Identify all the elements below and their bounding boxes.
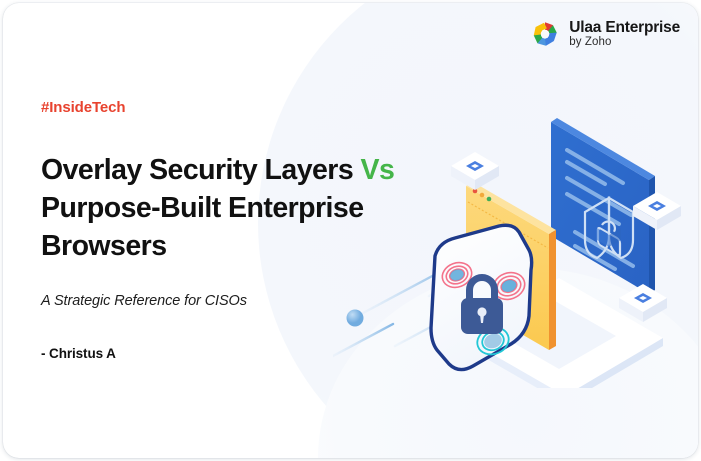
brand-logo-text: Ulaa Enterprise by Zoho — [569, 20, 680, 48]
page-title: Overlay Security Layers Vs Purpose-Built… — [41, 152, 461, 266]
window-minimize-dot — [480, 193, 485, 198]
headline-part-2: Purpose-Built Enterprise Browsers — [41, 192, 364, 262]
headline-accent: Vs — [361, 154, 395, 186]
author-byline: - Christus A — [41, 346, 461, 361]
window-maximize-dot — [487, 197, 492, 202]
ulaa-pinwheel-logo-icon — [530, 19, 560, 49]
kicker-tag: #InsideTech — [41, 99, 461, 116]
brand-tagline: by Zoho — [569, 37, 680, 49]
brand-name: Ulaa Enterprise — [569, 20, 680, 36]
cover-copy: #InsideTech Overlay Security Layers Vs P… — [41, 99, 461, 361]
headline-part-1: Overlay Security Layers — [41, 154, 361, 186]
brand-logo[interactable]: Ulaa Enterprise by Zoho — [530, 19, 680, 49]
article-cover-card: Ulaa Enterprise by Zoho — [3, 3, 698, 458]
floating-cube — [619, 284, 667, 322]
subtitle: A Strategic Reference for CISOs — [41, 293, 461, 309]
